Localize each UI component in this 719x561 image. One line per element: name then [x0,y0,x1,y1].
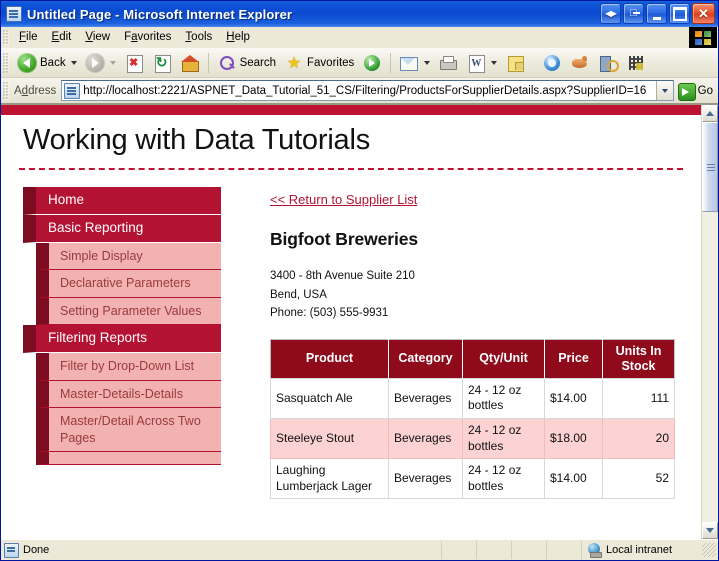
fox-icon [570,53,590,73]
back-label: Back [40,57,66,69]
sidebar-item-home[interactable]: Home [23,187,221,215]
address-label: Address [14,85,56,97]
sidebar-item-filtering-reports[interactable]: Filtering Reports [23,325,221,353]
menu-item-edit[interactable]: Edit [45,29,79,45]
cell-stock: 52 [603,459,675,499]
cell-product: Sasquatch Ale [271,378,389,418]
table-row: Steeleye Stout Beverages 24 - 12 oz bott… [271,419,675,459]
window-controls [600,3,715,24]
cell-product: Laughing Lumberjack Lager [271,459,389,499]
forward-group-button[interactable] [623,3,644,24]
print-icon [438,53,458,73]
sidebar-item-filter-by-drop-down-list[interactable]: Filter by Drop-Down List [36,353,221,381]
status-cell-3 [511,541,546,559]
security-zone-panel[interactable]: Local intranet [581,541,702,559]
window-title: Untitled Page - Microsoft Internet Explo… [27,7,292,22]
address-input-box[interactable]: http://localhost:2221/ASPNET_Data_Tutori… [61,80,673,101]
sidebar-item-clipped[interactable] [36,452,221,465]
address-grip[interactable] [3,82,9,100]
cell-product: Steeleye Stout [271,419,389,459]
mail-chevron-down-icon[interactable] [424,61,430,65]
chevron-down-icon [662,89,668,93]
forward-button[interactable] [81,51,120,75]
column-header-units-in-stock[interactable]: Units In Stock [603,339,675,378]
supplier-address-block: 3400 - 8th Avenue Suite 210 Bend, USA Ph… [270,267,687,323]
mail-button[interactable] [395,51,434,75]
fox-button[interactable] [566,51,594,75]
cell-price: $14.00 [545,459,603,499]
products-table: Product Category Qty/Unit Price Units In… [270,339,675,500]
main-content: << Return to Supplier List Bigfoot Brewe… [221,187,687,499]
page-icon [6,6,22,22]
scrollbar-track[interactable] [702,122,718,522]
supplier-name-heading: Bigfoot Breweries [270,229,687,250]
back-button[interactable]: Back [13,51,81,75]
resize-grip[interactable] [702,543,716,557]
sidebar-item-declarative-parameters[interactable]: Declarative Parameters [36,270,221,298]
zone-label: Local intranet [606,544,672,556]
vertical-scrollbar[interactable] [701,105,718,539]
address-phone: Phone: (503) 555-9931 [270,304,687,323]
edit-chevron-down-icon[interactable] [491,61,497,65]
go-label: Go [698,85,713,97]
status-cell-4 [546,541,581,559]
column-header-qty-unit[interactable]: Qty/Unit [463,339,545,378]
sidebar-item-master-details-details[interactable]: Master-Details-Details [36,381,221,409]
cell-price: $14.00 [545,378,603,418]
sidebar-item-basic-reporting[interactable]: Basic Reporting [23,215,221,243]
menu-item-file[interactable]: File [12,29,45,45]
media-icon [362,53,382,73]
toolbar-grip[interactable] [3,53,9,73]
address-bar: Address http://localhost:2221/ASPNET_Dat… [1,78,718,104]
browser-window: Untitled Page - Microsoft Internet Explo… [0,0,719,561]
return-to-supplier-list-link[interactable]: << Return to Supplier List [270,192,417,207]
search-label: Search [240,57,276,69]
page-status-icon [4,543,19,558]
scrollbar-thumb[interactable] [702,122,718,212]
messenger-icon [542,53,562,73]
refresh-icon [152,53,172,73]
web-page: Working with Data Tutorials Home Basic R… [1,105,701,539]
cell-price: $18.00 [545,419,603,459]
column-header-category[interactable]: Category [389,339,463,378]
address-input[interactable]: http://localhost:2221/ASPNET_Data_Tutori… [83,85,655,97]
cell-stock: 20 [603,419,675,459]
windows-flag-logo [689,27,717,48]
back-history-chevron-down-icon[interactable] [71,61,77,65]
cell-stock: 111 [603,378,675,418]
chevron-down-icon [706,528,714,533]
page-top-accent-bar [1,105,701,115]
address-line-1: 3400 - 8th Avenue Suite 210 [270,267,687,286]
back-icon [17,53,37,73]
stop-button[interactable] [120,51,148,75]
cell-category: Beverages [389,419,463,459]
menu-item-view[interactable]: View [78,29,117,45]
forward-history-chevron-down-icon[interactable] [110,61,116,65]
edit-word-icon [466,53,486,73]
menu-item-help[interactable]: Help [219,29,257,45]
qrcode-icon [626,53,646,73]
column-header-price[interactable]: Price [545,339,603,378]
edit-word-button[interactable] [462,51,501,75]
home-icon [180,53,200,73]
cell-qty: 24 - 12 oz bottles [463,419,545,459]
messenger-button[interactable] [538,51,566,75]
menu-item-favorites[interactable]: Favorites [117,29,178,45]
menu-grip[interactable] [3,30,9,45]
scroll-up-button[interactable] [702,105,718,122]
toolbar-separator-2 [390,53,391,73]
forward-icon [85,53,105,73]
status-text: Done [23,544,49,556]
cell-category: Beverages [389,459,463,499]
status-cell-1 [441,541,476,559]
print-button[interactable] [434,51,462,75]
local-intranet-icon [587,543,602,558]
research-button[interactable] [594,51,622,75]
media-button[interactable] [358,51,386,75]
favorites-star-icon [284,53,304,73]
table-row: Laughing Lumberjack Lager Beverages 24 -… [271,459,675,499]
qrcode-button[interactable] [622,51,650,75]
favicon-icon [64,83,80,99]
favorites-label: Favorites [307,57,354,69]
maximize-button[interactable] [669,3,690,24]
sidebar-item-master-detail-across-two-pages[interactable]: Master/Detail Across Two Pages [36,408,221,452]
research-icon [598,53,618,73]
scroll-down-button[interactable] [702,522,718,539]
minimize-button[interactable] [646,3,667,24]
favorites-button[interactable]: Favorites [280,51,358,75]
status-cell-2 [476,541,511,559]
chevron-up-icon [706,111,714,116]
stop-icon [124,53,144,73]
restore-group-button[interactable] [600,3,621,24]
status-bar: Done Local intranet [1,539,718,560]
title-bar: Untitled Page - Microsoft Internet Explo… [1,1,718,27]
search-icon [217,53,237,73]
status-message-panel: Done [1,543,441,558]
table-header-row: Product Category Qty/Unit Price Units In… [271,339,675,378]
table-row: Sasquatch Ale Beverages 24 - 12 oz bottl… [271,378,675,418]
page-title: Working with Data Tutorials [23,124,687,157]
cell-qty: 24 - 12 oz bottles [463,378,545,418]
toolbar-separator [208,53,209,73]
menu-item-tools[interactable]: Tools [178,29,219,45]
search-button[interactable]: Search [213,51,280,75]
cell-category: Beverages [389,378,463,418]
column-header-product[interactable]: Product [271,339,389,378]
sidebar-item-setting-parameter-values[interactable]: Setting Parameter Values [36,298,221,326]
address-dropdown-button[interactable] [656,81,673,100]
home-button[interactable] [176,51,204,75]
go-arrow-icon [677,82,695,100]
notes-button[interactable] [501,51,529,75]
sidebar-item-simple-display[interactable]: Simple Display [36,243,221,271]
mail-icon [399,53,419,73]
go-button[interactable]: Go [674,82,718,100]
cell-qty: 24 - 12 oz bottles [463,459,545,499]
notes-icon [505,53,525,73]
menu-bar: File Edit View Favorites Tools Help [1,27,718,48]
close-button[interactable] [692,3,715,24]
refresh-button[interactable] [148,51,176,75]
browser-viewport: Working with Data Tutorials Home Basic R… [1,104,718,539]
sidebar-navigation: Home Basic Reporting Simple Display Decl… [23,187,221,499]
address-line-2: Bend, USA [270,286,687,305]
main-toolbar: Back Search Favorites [1,48,718,78]
